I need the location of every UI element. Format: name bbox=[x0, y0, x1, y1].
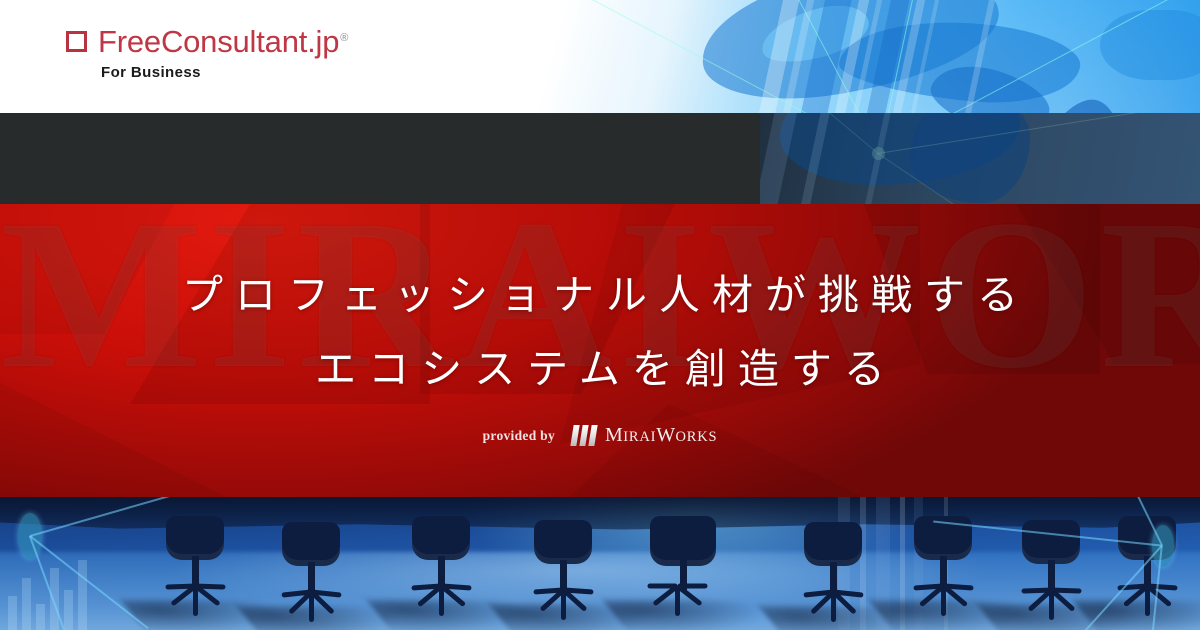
header-band: FreeConsultant.jp® For Business bbox=[0, 0, 1200, 113]
mirai-works-wordmark: MIRAIWORKS bbox=[605, 424, 717, 447]
office-chair-silhouette bbox=[1104, 516, 1190, 620]
logo-wordmark: FreeConsultant.jp® bbox=[98, 26, 348, 57]
network-node bbox=[872, 147, 885, 160]
hero-headline: プロフェッショナル人材が挑戦する エコシステムを創造する bbox=[0, 258, 1200, 406]
office-chair-silhouette bbox=[634, 516, 734, 620]
hero-banner: FreeConsultant.jp® For Business MIRAIWOR… bbox=[0, 0, 1200, 630]
brand-lead: M bbox=[605, 424, 623, 446]
mirai-works-logo[interactable]: MIRAIWORKS bbox=[572, 424, 717, 447]
conference-room-photo bbox=[0, 497, 1200, 630]
office-chair-silhouette bbox=[520, 520, 606, 624]
provided-by-label: provided by bbox=[483, 428, 555, 444]
brand-logo[interactable]: FreeConsultant.jp® For Business bbox=[66, 26, 348, 81]
brand-second-small: ORKS bbox=[676, 429, 718, 445]
dark-divider-band bbox=[0, 113, 1200, 204]
brand-lead-small: IRAI bbox=[623, 429, 656, 445]
logo-wordmark-text: FreeConsultant.jp bbox=[98, 24, 339, 59]
office-chair-silhouette bbox=[900, 516, 986, 620]
provided-by-lockup: provided by MIRAIWORKS bbox=[0, 424, 1200, 447]
logo-subtitle: For Business bbox=[101, 64, 348, 81]
office-chair-silhouette bbox=[152, 516, 238, 620]
world-map-graphic-shadowed bbox=[760, 113, 1200, 204]
brand-second: W bbox=[656, 424, 675, 446]
continent-shape bbox=[910, 113, 1030, 203]
logo-wordmark-row: FreeConsultant.jp® bbox=[66, 26, 348, 57]
office-chair-silhouette bbox=[790, 522, 876, 626]
three-bars-icon bbox=[572, 425, 596, 446]
registered-trademark-icon: ® bbox=[340, 32, 348, 44]
headline-line-1: プロフェッショナル人材が挑戦する bbox=[0, 258, 1200, 332]
square-outline-icon bbox=[66, 31, 87, 52]
headline-line-2: エコシステムを創造する bbox=[0, 332, 1200, 406]
office-chair-silhouette bbox=[268, 522, 354, 626]
office-chair-silhouette bbox=[398, 516, 484, 620]
